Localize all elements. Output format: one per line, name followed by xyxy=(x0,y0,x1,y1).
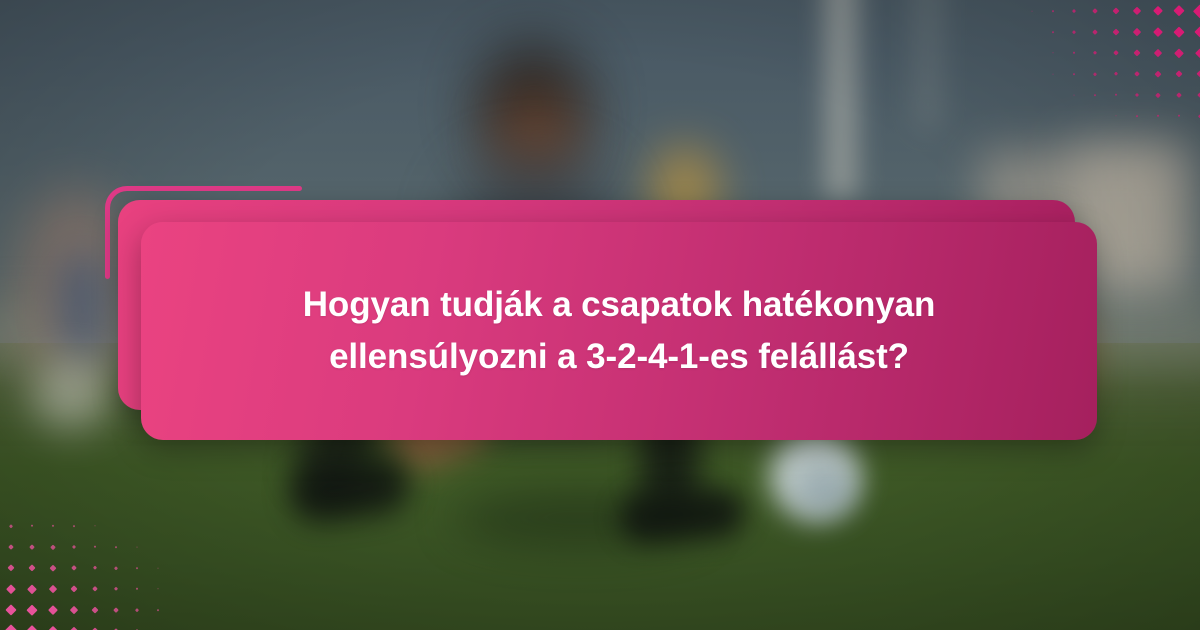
headline-card: Hogyan tudják a csapatok hatékonyan elle… xyxy=(141,222,1097,440)
headline-line-2: ellensúlyozni a 3-2-4-1-es felállást? xyxy=(303,331,936,384)
headline-line-1: Hogyan tudják a csapatok hatékonyan xyxy=(303,285,936,324)
share-card-canvas: Hogyan tudják a csapatok hatékonyan elle… xyxy=(0,0,1200,630)
page-title: Hogyan tudják a csapatok hatékonyan elle… xyxy=(263,279,976,384)
